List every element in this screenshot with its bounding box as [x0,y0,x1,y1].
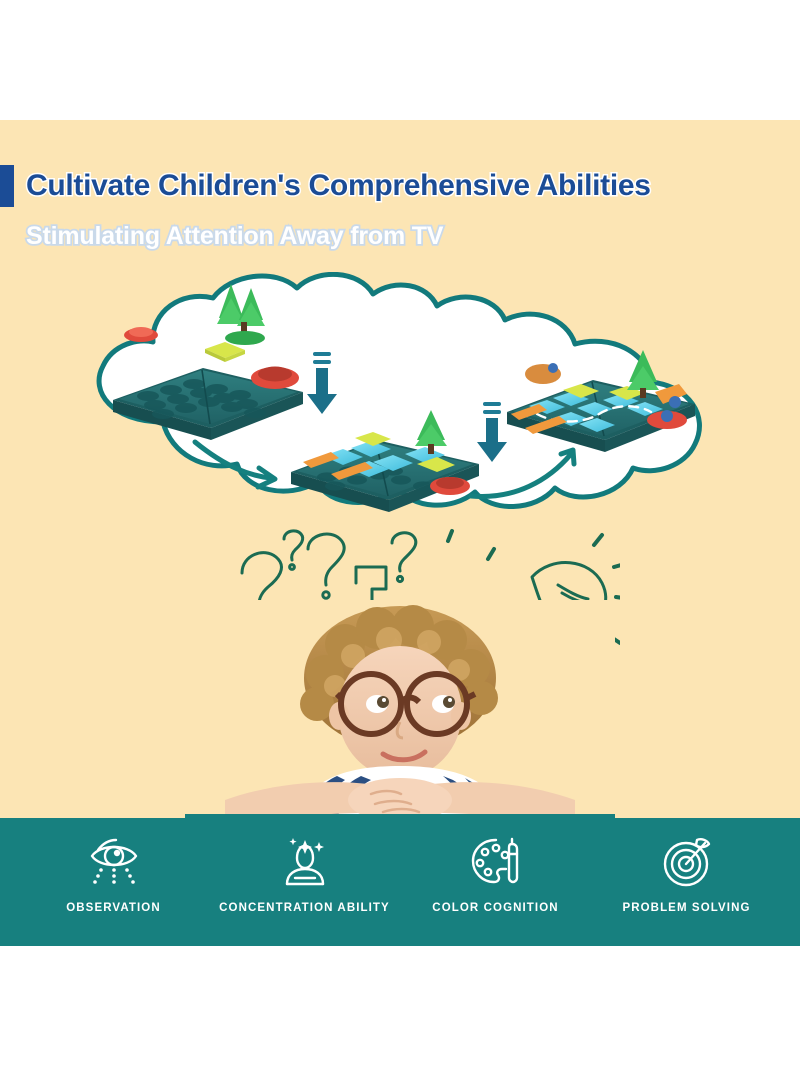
headline-row: Cultivate Children's Comprehensive Abili… [0,160,800,212]
feature-label: PROBLEM SOLVING [622,902,750,914]
feature-label: COLOR COGNITION [432,902,558,914]
accent-bar [0,165,14,207]
bottom-margin [0,946,800,1091]
feature-problem-solving[interactable]: PROBLEM SOLVING [591,834,782,914]
feature-label: CONCENTRATION ABILITY [219,902,390,914]
question-mark-icon [284,531,303,570]
child-photo [185,600,615,820]
feature-label: OBSERVATION [66,902,161,914]
eye-icon [86,834,142,890]
feature-band: OBSERVATION CONC [0,818,800,946]
feature-concentration[interactable]: CONCENTRATION ABILITY [209,834,400,914]
feature-color-cognition[interactable]: COLOR COGNITION [400,834,591,914]
palette-icon [468,834,524,890]
feature-observation[interactable]: OBSERVATION [18,834,209,914]
marketing-banner: Cultivate Children's Comprehensive Abili… [0,0,800,1091]
page-subtitle: Stimulating Attention Away from TV [26,222,786,251]
page-title: Cultivate Children's Comprehensive Abili… [26,169,651,203]
question-mark-icon [308,534,344,598]
target-dart-icon [659,834,715,890]
thought-cloud-illustration [55,272,755,512]
piece-red-gear-2 [430,477,470,495]
person-sparkle-icon [277,834,333,890]
question-mark-icon [392,533,416,582]
